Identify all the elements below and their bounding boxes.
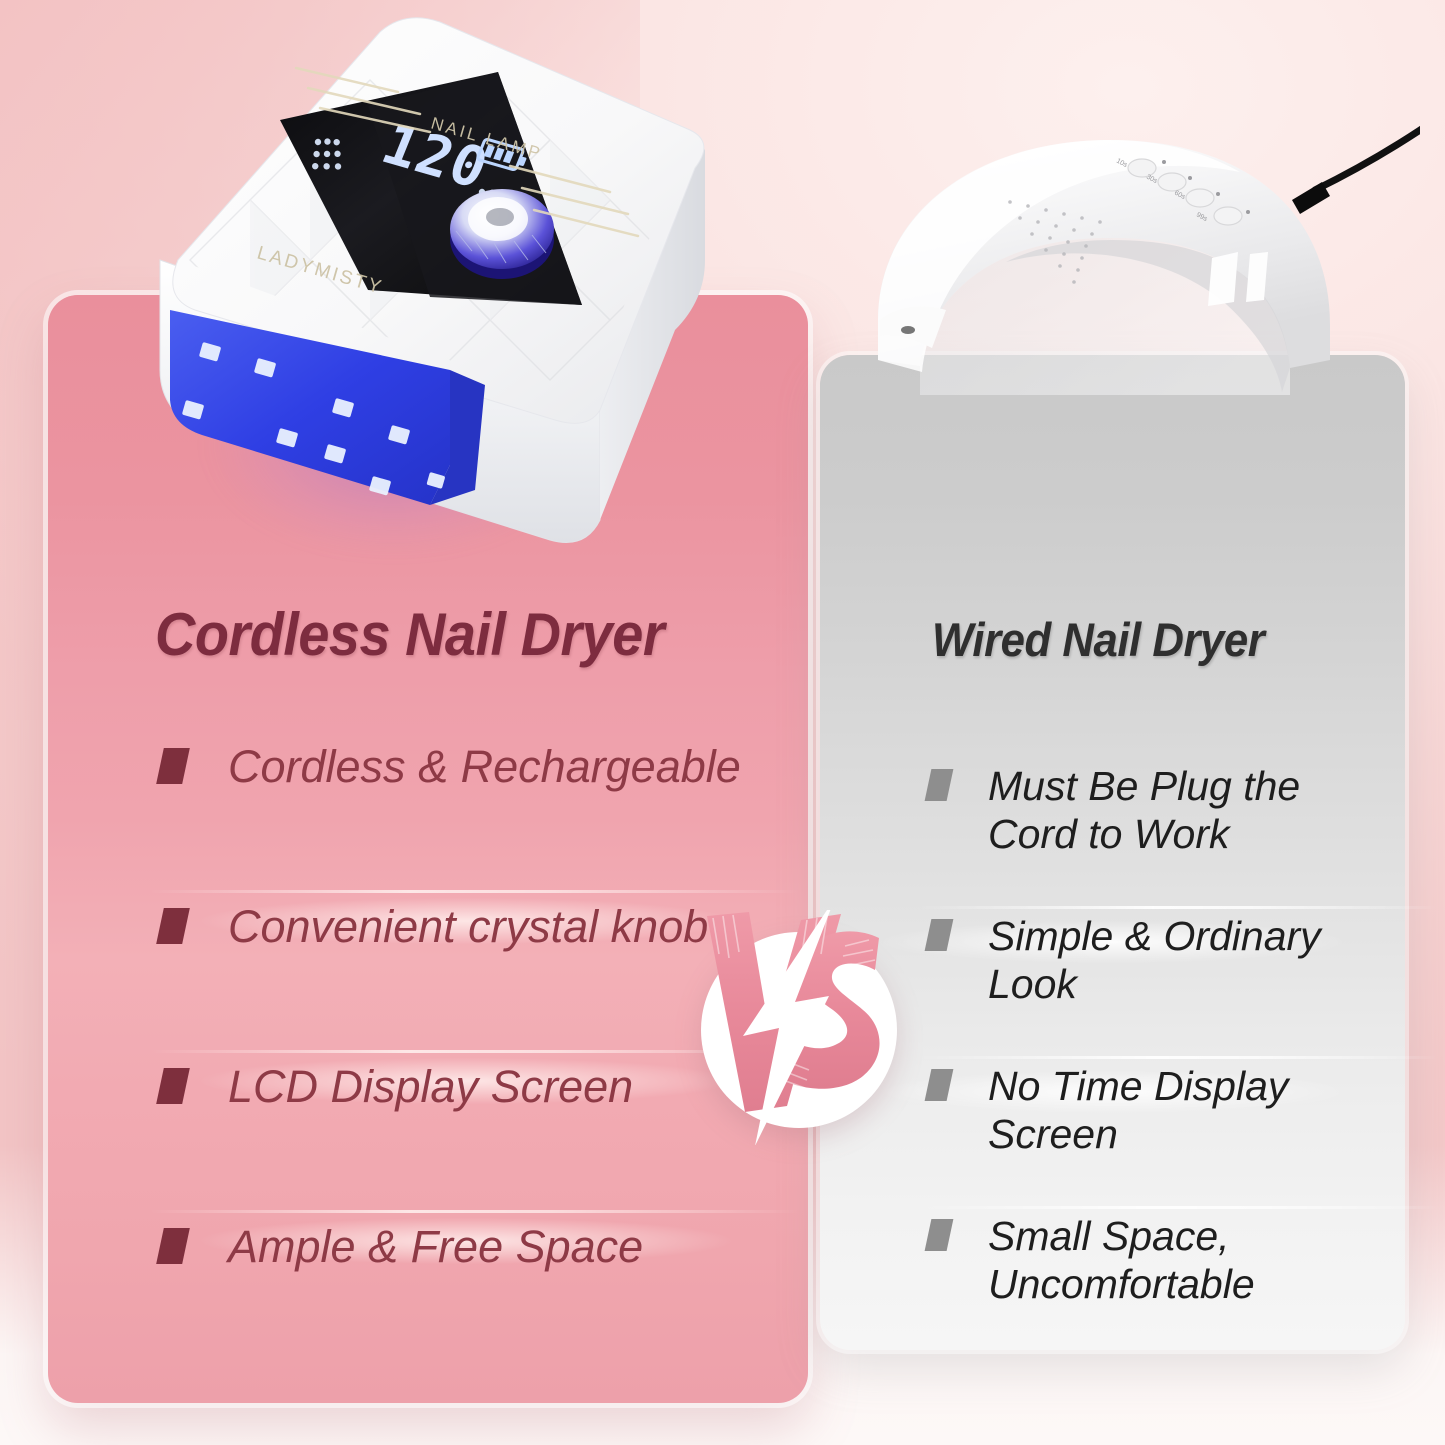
cordless-feature-list: Cordless & Rechargeable Convenient cryst… bbox=[160, 740, 760, 1380]
bullet-marker-icon bbox=[925, 1069, 954, 1101]
list-item: Must Be Plug the Cord to Work bbox=[928, 762, 1398, 912]
bullet-marker-icon bbox=[156, 1228, 190, 1264]
list-item-label: Cordless & Rechargeable bbox=[228, 740, 741, 793]
list-item-label: No Time Display Screen bbox=[988, 1062, 1398, 1159]
list-item: Ample & Free Space bbox=[160, 1220, 760, 1380]
list-item: Simple & Ordinary Look bbox=[928, 912, 1398, 1062]
bullet-marker-icon bbox=[156, 908, 190, 944]
list-item-label: Small Space, Uncomfortable bbox=[988, 1212, 1398, 1309]
list-divider bbox=[150, 1210, 800, 1213]
versus-badge bbox=[683, 910, 918, 1145]
infographic-canvas: 120 bbox=[0, 0, 1445, 1445]
list-item: Small Space, Uncomfortable bbox=[928, 1212, 1398, 1362]
list-item: Cordless & Rechargeable bbox=[160, 740, 760, 900]
list-item-label: Convenient crystal knob bbox=[228, 900, 708, 953]
page-title-cordless: Cordless Nail Dryer bbox=[155, 600, 664, 669]
bullet-marker-icon bbox=[925, 769, 954, 801]
page-title-wired: Wired Nail Dryer bbox=[932, 612, 1264, 667]
list-divider bbox=[150, 890, 800, 893]
list-divider bbox=[918, 906, 1438, 909]
list-item-label: Simple & Ordinary Look bbox=[988, 912, 1398, 1009]
bullet-marker-icon bbox=[925, 1219, 954, 1251]
list-item: Convenient crystal knob bbox=[160, 900, 760, 1060]
list-divider bbox=[918, 1206, 1438, 1209]
wired-feature-list: Must Be Plug the Cord to Work Simple & O… bbox=[928, 762, 1398, 1362]
list-item-label: LCD Display Screen bbox=[228, 1060, 633, 1113]
list-item-label: Must Be Plug the Cord to Work bbox=[988, 762, 1398, 859]
list-divider bbox=[918, 1056, 1438, 1059]
versus-letters-icon bbox=[683, 910, 918, 1145]
list-item-label: Ample & Free Space bbox=[228, 1220, 643, 1273]
wired-lamp-image: 10s 30s 60s 99s bbox=[860, 120, 1420, 410]
cordless-lamp-image: 120 bbox=[130, 10, 750, 590]
bullet-marker-icon bbox=[156, 1068, 190, 1104]
bullet-marker-icon bbox=[156, 748, 190, 784]
list-item: LCD Display Screen bbox=[160, 1060, 760, 1220]
bullet-marker-icon bbox=[925, 919, 954, 951]
list-item: No Time Display Screen bbox=[928, 1062, 1398, 1212]
